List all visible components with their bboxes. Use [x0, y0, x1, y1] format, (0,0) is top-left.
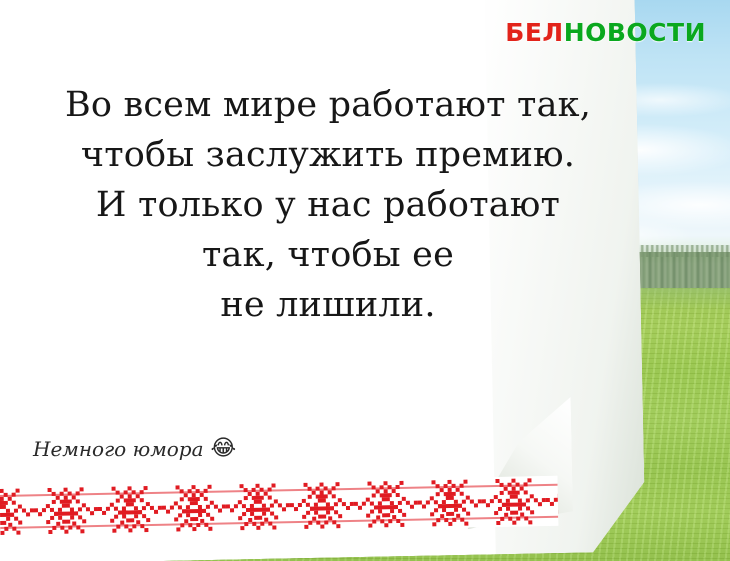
quote-line-3: И только у нас работают [18, 180, 638, 230]
quote-text: Во всем мире работают так, чтобы заслужи… [18, 80, 638, 330]
quote-line-5: не лишили. [18, 280, 638, 330]
signature-label: Немного юмора [33, 437, 204, 461]
site-logo[interactable]: БЕЛНОВОСТИ [505, 18, 706, 47]
quote-line-1: Во всем мире работают так, [18, 80, 638, 130]
logo-text-novosti: НОВОСТИ [564, 18, 706, 47]
quote-line-2: чтобы заслужить премию. [18, 130, 638, 180]
face-with-tears-of-joy-icon: 😂 [211, 438, 237, 460]
quote-line-4: так, чтобы ее [18, 230, 638, 280]
logo-text-bel: БЕЛ [505, 18, 563, 47]
quote-card: БЕЛНОВОСТИ Во всем мире работают так, чт… [0, 0, 730, 561]
signature: Немного юмора 😂 [33, 437, 236, 461]
